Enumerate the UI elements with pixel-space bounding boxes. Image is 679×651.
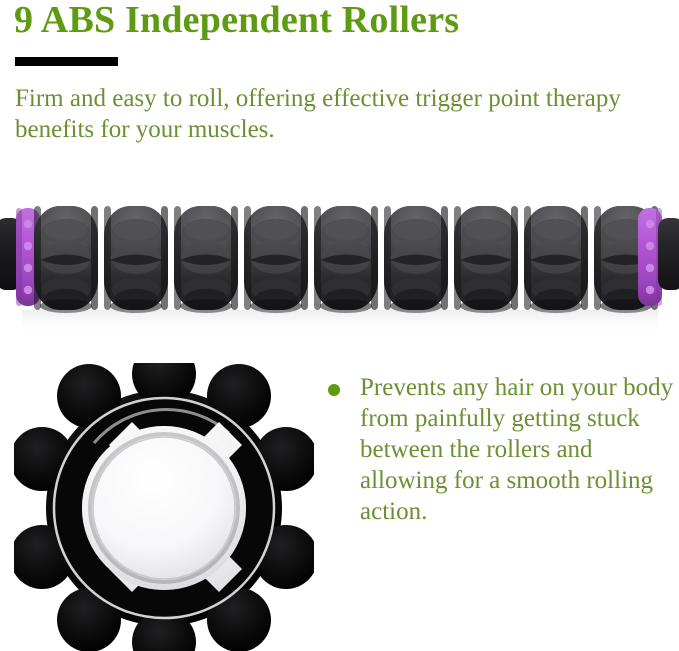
page-title: 9 ABS Independent Rollers [14,0,674,42]
subtitle-text: Firm and easy to roll, offering effectiv… [15,83,665,145]
bullet-item-text: Prevents any hair on your body from pain… [326,372,678,527]
feature-bullet-list: Prevents any hair on your body from pain… [326,372,678,527]
product-feature-panel: 9 ABS Independent Rollers Firm and easy … [0,0,679,651]
bullet-dot-icon [328,384,340,396]
muscle-roller-stick-image [0,196,679,344]
roller-end-cap-closeup-image [14,363,314,651]
title-divider-bar [15,57,118,66]
